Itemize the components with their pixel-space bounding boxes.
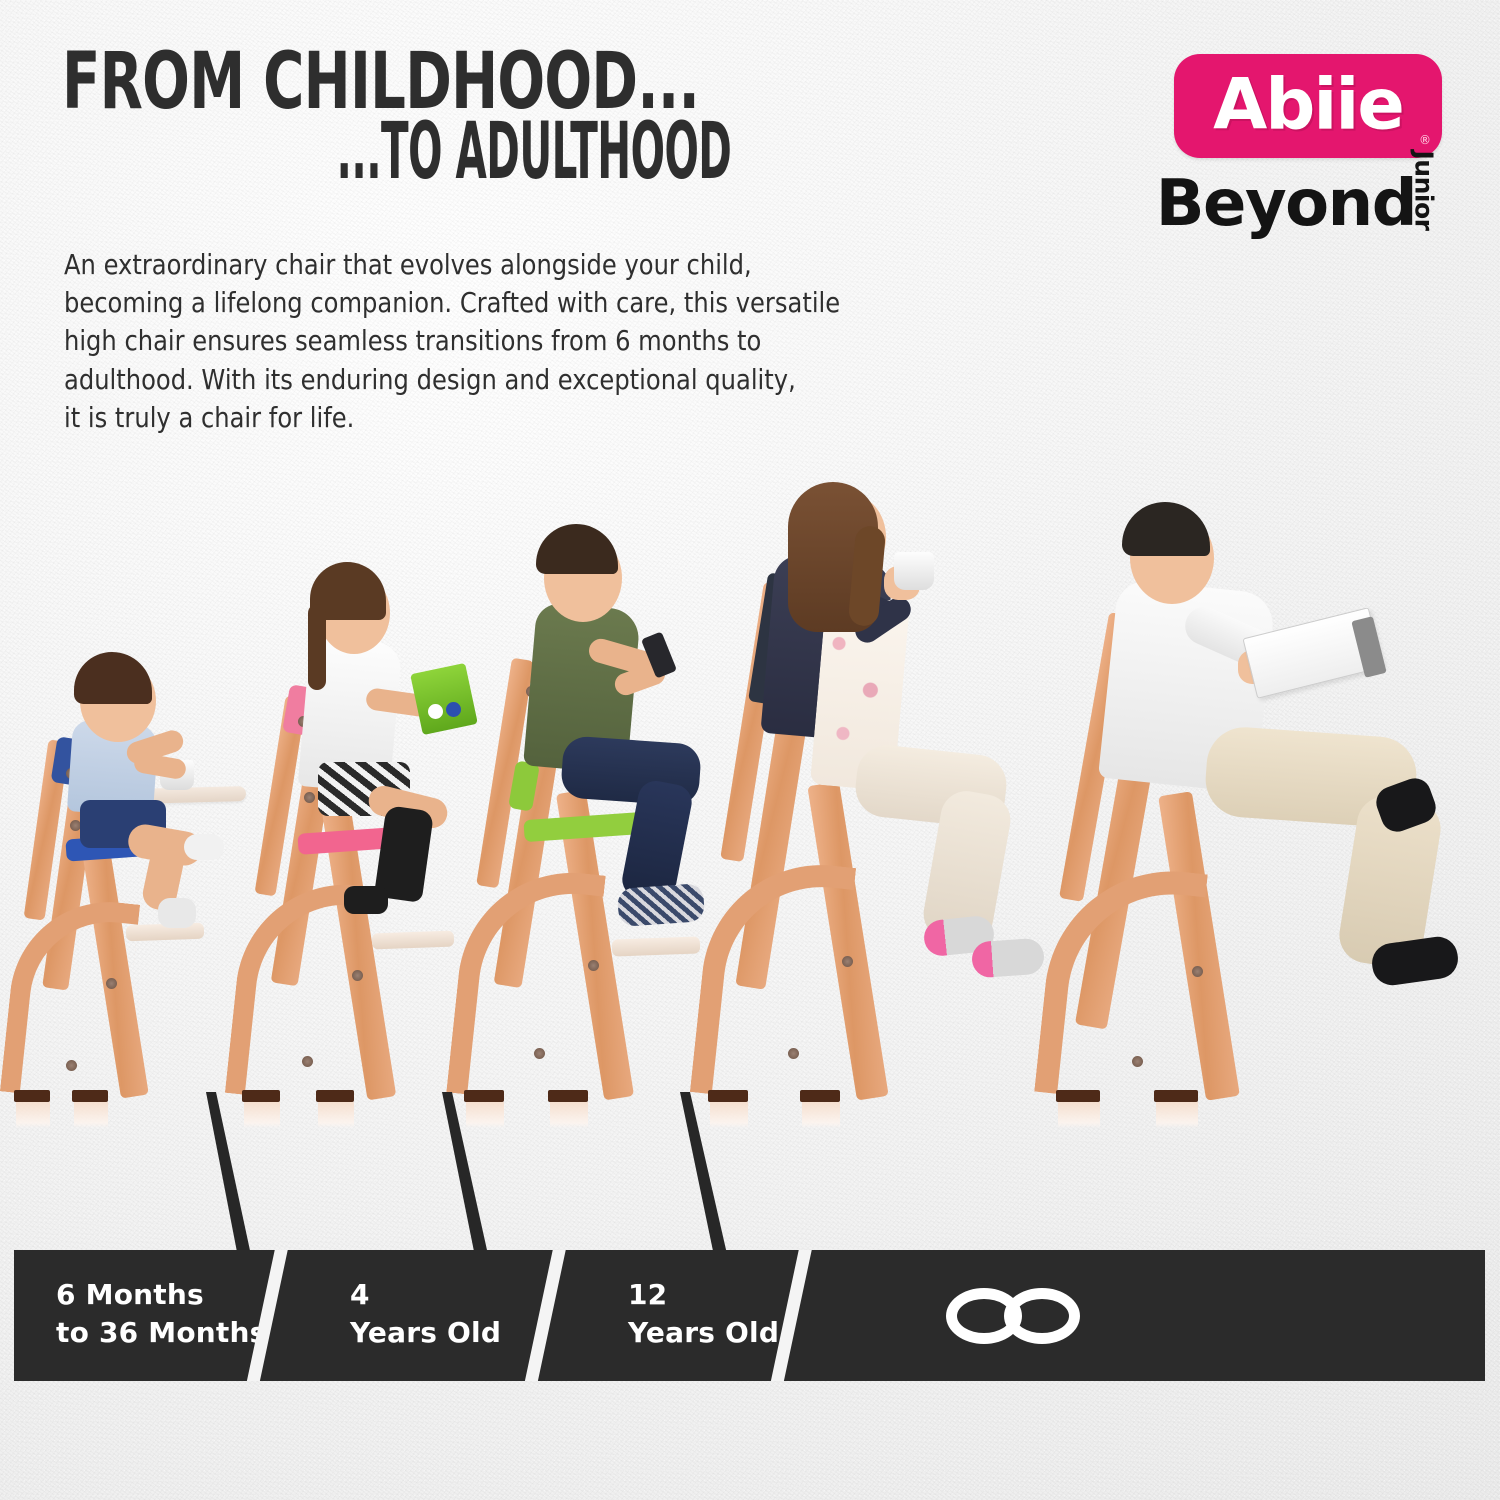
- toddler-shoe: [184, 834, 224, 860]
- chair-foot-reflection-left: [244, 1102, 280, 1128]
- age-cell-stage-2: 4 Years Old: [314, 1250, 558, 1381]
- woman-sock-right: [971, 938, 1045, 979]
- figure-toddler: [8, 500, 268, 1120]
- toddler-hair: [74, 652, 152, 704]
- age-cell-stage-1: 6 Months to 36 Months: [14, 1250, 276, 1381]
- age-label-stage-1-top: 6 Months: [56, 1276, 204, 1313]
- chair-foot-reflection-left: [710, 1102, 748, 1128]
- page-title: FROM CHILDHOOD... ...TO ADULTHOOD: [62, 48, 992, 187]
- registered-trademark-icon: ®: [1419, 134, 1431, 146]
- age-label-stage-1-bottom: to 36 Months: [56, 1314, 267, 1351]
- toddler-sock: [158, 898, 196, 928]
- chair-screw: [842, 956, 853, 967]
- headline-line-2: ...TO ADULTHOOD: [337, 117, 732, 187]
- chair-curved-rear-leg: [0, 892, 140, 1103]
- chair-screw: [1132, 1056, 1143, 1067]
- chair-screw: [66, 1060, 77, 1071]
- intro-line-3: high chair ensures seamless transitions …: [64, 322, 953, 360]
- headline-line-2-wrap: ...TO ADULTHOOD: [62, 117, 732, 187]
- figure-man: [1052, 500, 1482, 1120]
- girl-braid: [308, 604, 326, 690]
- chair-screw: [1192, 966, 1203, 977]
- chair-foot-reflection-right: [74, 1102, 108, 1128]
- chair-foot-reflection-left: [1058, 1102, 1100, 1128]
- product-lifecycle-scene: [0, 480, 1500, 1120]
- chair-foot-reflection-right: [318, 1102, 354, 1128]
- intro-paragraph: An extraordinary chair that evolves alon…: [64, 246, 953, 437]
- age-cell-stage-4: [838, 1250, 1478, 1381]
- product-wordmark-group: Beyond Junior: [1130, 170, 1462, 254]
- chair-curved-rear-leg: [446, 862, 606, 1107]
- abiie-wordmark: Abiie: [1174, 70, 1442, 140]
- brand-logo: Abiie ® Beyond Junior: [1130, 54, 1462, 272]
- chair-footrest: [372, 931, 455, 950]
- chair-foot-cap-right: [1154, 1090, 1198, 1102]
- intro-line-5: it is truly a chair for life.: [64, 399, 953, 437]
- chair-foot-cap-right: [316, 1090, 354, 1102]
- chair-foot-cap-left: [464, 1090, 504, 1102]
- junior-wordmark: Junior: [1410, 151, 1439, 231]
- age-label-stage-3-bottom: Years Old: [628, 1314, 779, 1351]
- chair-screw: [302, 1056, 313, 1067]
- infinity-icon: [946, 1288, 1096, 1344]
- chair-screw: [588, 960, 599, 971]
- age-stage-bar: 6 Months to 36 Months 4 Years Old 12 Yea…: [14, 1250, 1485, 1381]
- chair-screw: [788, 1048, 799, 1059]
- age-label-stage-2-bottom: Years Old: [350, 1314, 501, 1351]
- age-label-stage-3-top: 12: [628, 1276, 667, 1313]
- mug-icon: [894, 552, 934, 590]
- chair-foot-reflection-right: [1156, 1102, 1198, 1128]
- chair-foot-reflection-left: [16, 1102, 50, 1128]
- chair-footrest: [612, 936, 701, 956]
- chair-screw: [352, 970, 363, 981]
- chair-screw: [534, 1048, 545, 1059]
- figure-woman: [716, 500, 1076, 1120]
- chair-foot-cap-left: [14, 1090, 50, 1102]
- poster-canvas: FROM CHILDHOOD... ...TO ADULTHOOD An ext…: [0, 0, 1500, 1500]
- chair-foot-reflection-right: [802, 1102, 840, 1128]
- chair-foot-cap-right: [548, 1090, 588, 1102]
- chair-foot-reflection-right: [550, 1102, 588, 1128]
- boy-hair: [536, 524, 618, 574]
- chair-foot-cap-right: [72, 1090, 108, 1102]
- infinity-ring-right: [1004, 1288, 1080, 1344]
- book-eye-icon: [428, 704, 443, 719]
- beyond-wordmark: Beyond: [1156, 172, 1416, 236]
- chair-foot-cap-left: [1056, 1090, 1100, 1102]
- chair-foot-cap-left: [708, 1090, 748, 1102]
- abiie-logo-badge: Abiie ®: [1174, 54, 1442, 158]
- chair-foot-cap-right: [800, 1090, 840, 1102]
- chair-screw: [304, 792, 315, 803]
- chair-foot-reflection-left: [466, 1102, 504, 1128]
- age-label-stage-2-top: 4: [350, 1276, 370, 1313]
- intro-line-1: An extraordinary chair that evolves alon…: [64, 246, 953, 284]
- chair-screw: [106, 978, 117, 989]
- girl-boot-2: [344, 886, 388, 914]
- boy-shoe: [617, 883, 705, 927]
- chair-foot-cap-left: [242, 1090, 280, 1102]
- man-hair: [1122, 502, 1210, 556]
- intro-line-4: adulthood. With its enduring design and …: [64, 361, 953, 399]
- intro-line-2: becoming a lifelong companion. Crafted w…: [64, 284, 953, 322]
